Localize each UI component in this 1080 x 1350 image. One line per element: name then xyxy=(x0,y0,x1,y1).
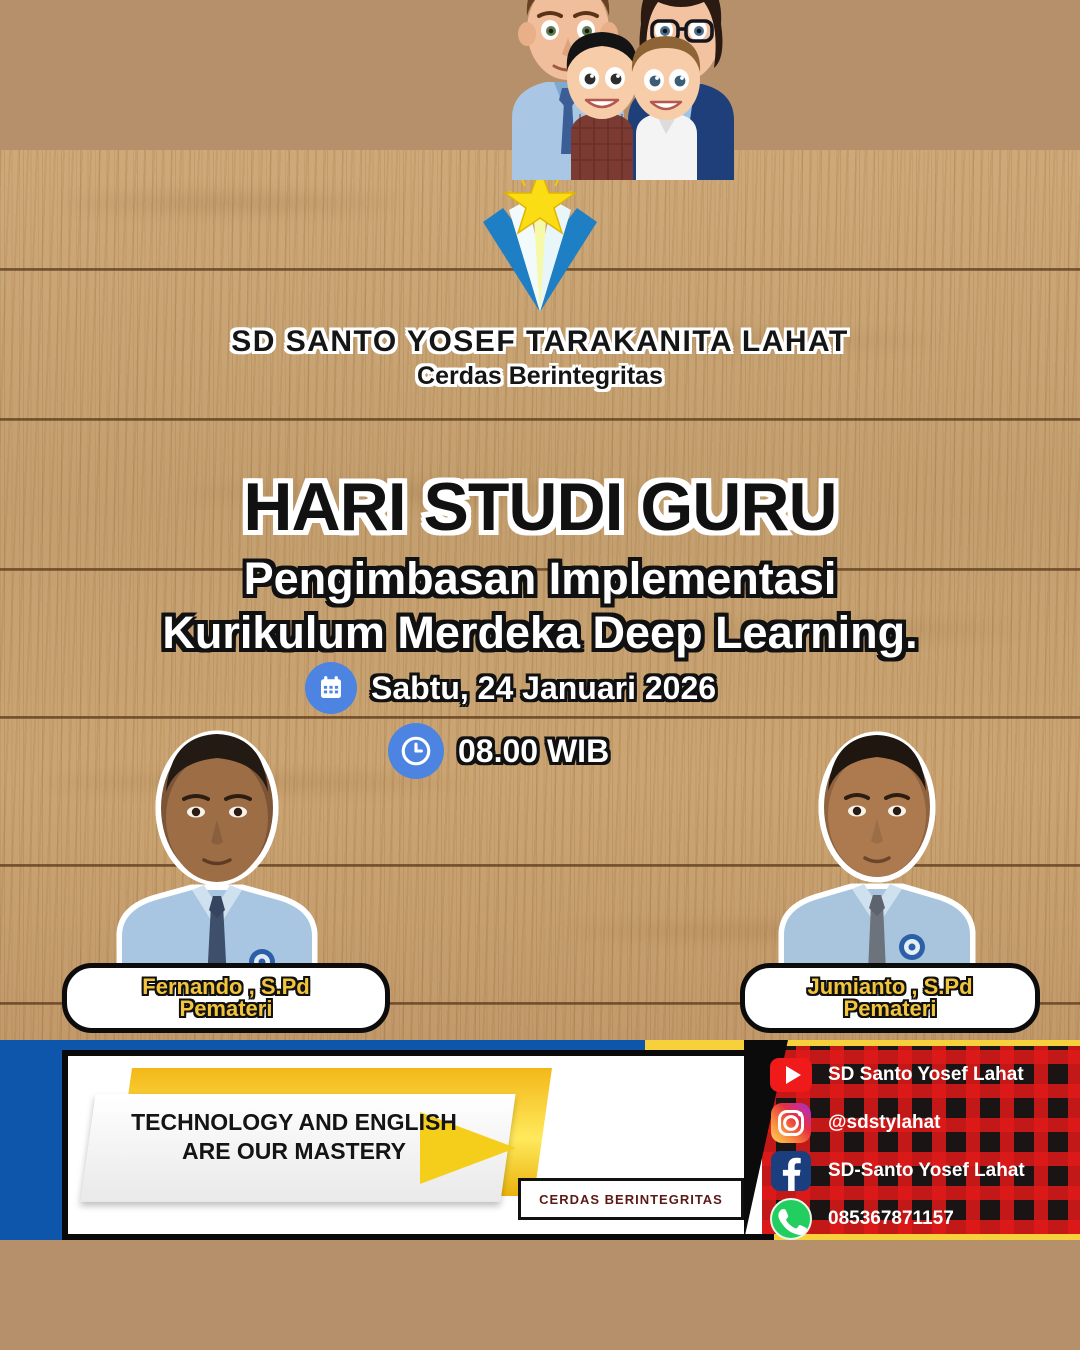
social-row-instagram[interactable]: @sdstylahat xyxy=(770,1100,1070,1145)
social-row-facebook[interactable]: SD-Santo Yosef Lahat xyxy=(770,1148,1070,1193)
social-label-whatsapp: 085367871157 xyxy=(828,1208,954,1230)
school-name: SD SANTO YOSEF TARAKANITA LAHAT xyxy=(0,325,1080,359)
poster-canvas: SD SANTO YOSEF TARAKANITA LAHAT Cerdas B… xyxy=(0,0,1080,1350)
speaker-name-badge-left: Fernando , S.Pd Pemateri xyxy=(62,963,390,1033)
social-label-facebook: SD-Santo Yosef Lahat xyxy=(828,1160,1025,1182)
speaker-name-right: Jumianto , S.Pd xyxy=(807,976,972,998)
footer-tagline: TECHNOLOGY AND ENGLISH ARE OUR MASTERY xyxy=(104,1108,484,1166)
event-headline: HARI STUDI GURU xyxy=(0,468,1080,546)
speaker-photo-jumianto xyxy=(772,695,982,995)
event-time-text: 08.00 WIB xyxy=(458,733,609,770)
speaker-role-right: Pemateri xyxy=(844,998,937,1020)
social-label-youtube: SD Santo Yosef Lahat xyxy=(828,1064,1024,1086)
school-tagline: Cerdas Berintegritas xyxy=(0,362,1080,391)
mascot-girl xyxy=(632,36,700,180)
facebook-icon[interactable] xyxy=(770,1150,812,1192)
instagram-icon[interactable] xyxy=(770,1102,812,1144)
footer-tagline-line1: TECHNOLOGY AND ENGLISH xyxy=(104,1108,484,1137)
mascot-boy xyxy=(567,32,637,180)
mascot-motto-label: CERDAS BERINTEGRITAS xyxy=(518,1178,744,1220)
social-label-instagram: @sdstylahat xyxy=(828,1112,941,1134)
whatsapp-icon[interactable] xyxy=(770,1198,812,1240)
event-subtitle-line2: Kurikulum Merdeka Deep Learning. xyxy=(0,607,1080,659)
speaker-name-left: Fernando , S.Pd xyxy=(142,976,309,998)
event-date-row: Sabtu, 24 Januari 2026 xyxy=(305,662,716,714)
social-row-youtube[interactable]: SD Santo Yosef Lahat xyxy=(770,1052,1070,1097)
event-date-text: Sabtu, 24 Januari 2026 xyxy=(371,670,716,707)
event-subtitle-line1: Pengimbasan Implementasi xyxy=(0,553,1080,605)
school-crest-logo xyxy=(0,160,1080,315)
speaker-photo-fernando xyxy=(112,700,322,1000)
speaker-role-left: Pemateri xyxy=(180,998,273,1020)
speaker-name-badge-right: Jumianto , S.Pd Pemateri xyxy=(740,963,1040,1033)
social-row-whatsapp[interactable]: 085367871157 xyxy=(770,1196,1070,1241)
social-media-list: SD Santo Yosef Lahat xyxy=(770,1052,1070,1244)
event-time-row: 08.00 WIB xyxy=(388,723,609,779)
mascot-illustration xyxy=(498,0,748,180)
clock-icon xyxy=(388,723,444,779)
youtube-icon[interactable] xyxy=(770,1054,812,1096)
footer-tagline-line2: ARE OUR MASTERY xyxy=(104,1137,484,1166)
